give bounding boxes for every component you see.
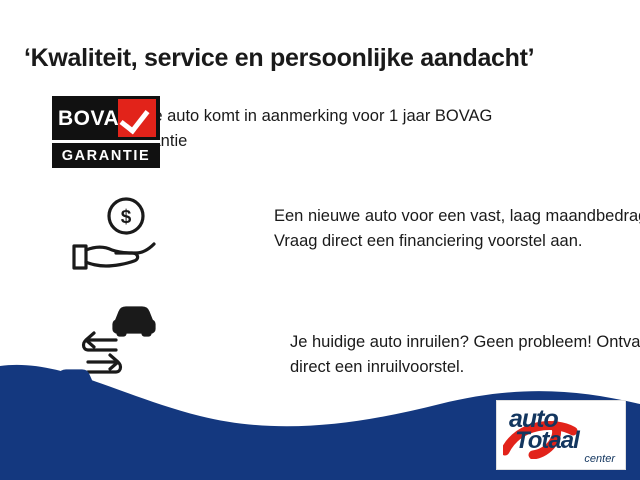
bovag-garantie-label: GARANTIE [62, 148, 151, 164]
feature-row-trade-in: Je huidige auto inruilen? Geen probleem!… [52, 300, 640, 400]
car-exchange-icon [52, 300, 164, 400]
flyer-page: ‘Kwaliteit, service en persoonlijke aand… [0, 0, 640, 480]
feature-text-financing: Een nieuwe auto voor een vast, laag maan… [274, 196, 640, 254]
page-title: ‘Kwaliteit, service en persoonlijke aand… [24, 44, 534, 73]
brand-name-line2: Totaal [515, 427, 579, 455]
feature-text-trade-in: Je huidige auto inruilen? Geen probleem!… [290, 300, 640, 380]
bovag-check-badge [118, 99, 156, 137]
svg-text:$: $ [121, 207, 132, 228]
brand-tagline: center [584, 453, 615, 465]
brand-logo: auto Totaal center [496, 400, 626, 470]
feature-row-financing: $ Een nieuwe auto voor een vast, laag ma… [70, 196, 640, 274]
hand-holding-coin-icon: $ [70, 196, 166, 274]
feature-row-bovag: BOVAG GARANTIE Deze auto komt in aanmerk… [52, 96, 544, 154]
feature-text-bovag: Deze auto komt in aanmerking voor 1 jaar… [124, 96, 544, 154]
